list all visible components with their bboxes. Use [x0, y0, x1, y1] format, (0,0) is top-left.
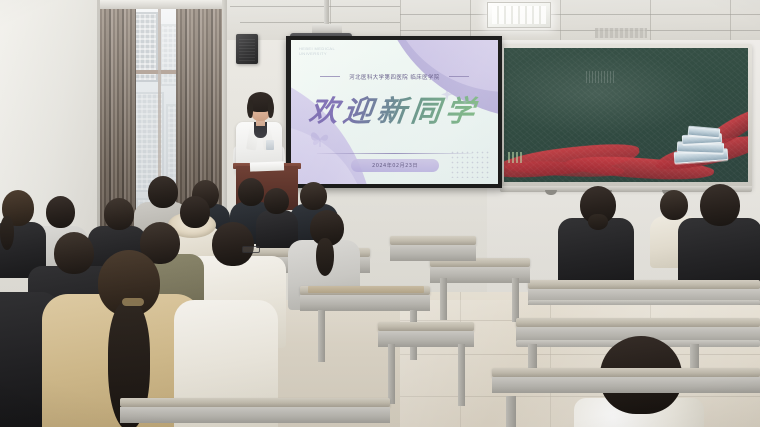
- desk-surface: [378, 322, 474, 331]
- desk-leg: [458, 344, 465, 406]
- desk-leg: [318, 310, 325, 362]
- slide-date-badge: 2024年02月23日: [351, 159, 439, 172]
- projection-screen: HEBEI MEDICAL UNIVERSITY 河北医科大学第四医院 临床医学…: [291, 40, 498, 184]
- desk-rail: [528, 300, 760, 305]
- logo-line-2: UNIVERSITY: [299, 51, 341, 56]
- projector-mount-arm: [324, 0, 329, 26]
- desk-leg: [440, 278, 447, 320]
- chalk-book: [674, 148, 729, 164]
- wall-corner-edge: [97, 0, 100, 250]
- classroom-scene: HEBEI MEDICAL UNIVERSITY 河北医科大学第四医院 临床医学…: [0, 0, 760, 427]
- chalk-ribbon: [504, 139, 641, 182]
- lecture-bench-desks: [390, 236, 476, 256]
- projector-vent: [586, 71, 616, 83]
- slide-divider-rule: [317, 153, 472, 154]
- university-logo: HEBEI MEDICAL UNIVERSITY: [299, 46, 341, 62]
- slide-header-text: 河北医科大学第四医院 临床医学院: [349, 73, 440, 81]
- chalk-book: [682, 133, 722, 145]
- chalk-ribbon: [653, 131, 748, 175]
- desk-front-panel: [492, 377, 760, 393]
- desk-leg: [512, 278, 519, 322]
- curtain-rod: [100, 0, 225, 9]
- chalk-books-drawing: [672, 126, 728, 166]
- desk-surface: [120, 398, 390, 407]
- slide-header: 河北医科大学第四医院 临床医学院: [291, 68, 498, 86]
- desk-front-panel: [300, 295, 430, 311]
- presenter-hair: [247, 100, 253, 118]
- header-rule-left: [320, 76, 340, 77]
- desk-leg: [388, 344, 395, 404]
- ceiling-light-panel: [487, 2, 551, 28]
- lecture-bench-desks: [378, 322, 474, 346]
- lecture-bench-desks: [492, 368, 760, 398]
- chalk-ribbon: [563, 153, 714, 182]
- lecture-bench-desks: [120, 398, 390, 427]
- desk-wood-top: [308, 286, 424, 293]
- chalk-ribbon: [504, 159, 624, 179]
- desk-front-panel: [120, 407, 390, 423]
- header-rule-right: [449, 76, 469, 77]
- desk-leg: [506, 396, 516, 427]
- chalk-book: [688, 126, 721, 139]
- sparkle-icon: [439, 86, 483, 112]
- desk-surface: [516, 318, 760, 327]
- lecture-bench-desks: [430, 258, 530, 280]
- butterfly-icon: [307, 126, 333, 150]
- presenter-badge: [266, 140, 274, 150]
- green-chalkboard: [504, 48, 748, 182]
- desk-surface: [528, 280, 760, 289]
- desk-surface: [492, 368, 760, 377]
- slide-date-text: 2024年02月23日: [372, 162, 418, 169]
- wall-speaker: [236, 34, 258, 64]
- ceiling-vent: [595, 28, 647, 38]
- chalk-ribbon: [700, 105, 748, 154]
- desk-surface: [390, 236, 476, 245]
- chalk-book: [677, 141, 724, 154]
- slide-dot-grid: [450, 150, 490, 178]
- desk-front-panel: [390, 245, 476, 261]
- chalk-writing-mark: [508, 152, 524, 163]
- lectern-papers: [250, 161, 284, 171]
